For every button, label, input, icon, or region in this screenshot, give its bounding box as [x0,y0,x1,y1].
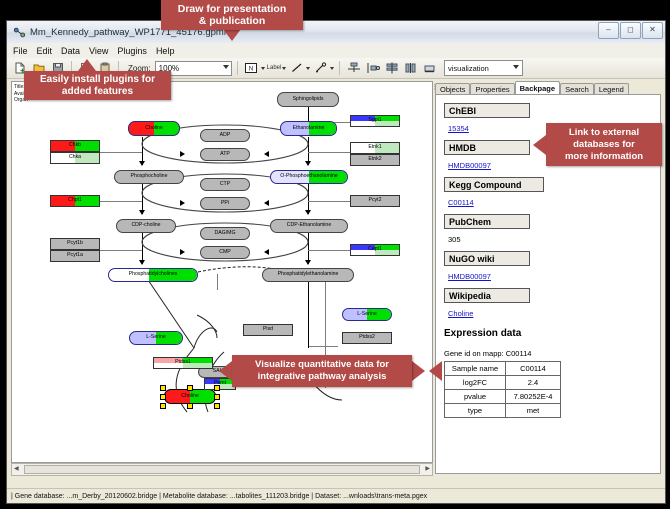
node-adp[interactable]: ADP [200,129,250,142]
selection-handle[interactable] [160,403,166,409]
toolbar-separator-3 [237,61,238,75]
db-link-hmdb[interactable]: HMDB00097 [448,161,491,170]
visualization-select[interactable]: visualization [444,60,523,76]
table-row: Sample name C00114 [445,362,561,376]
callout-visualize-line2: integrative pathway analysis [255,371,389,383]
callout-visualize-arrow-left [219,361,232,381]
scroll-right-icon[interactable]: ▶ [425,465,430,472]
db-link-nugo-wiki[interactable]: HMDB00097 [448,272,491,281]
callout-links-arrow [533,135,546,155]
table-row: log2FC 2.4 [445,376,561,390]
title-bar: Mm_Kennedy_pathway_WP1771_45176.gpml – ◻… [7,21,665,44]
callout-plugins-line1: Easily install plugins for [40,74,155,86]
gene-cept1[interactable]: Cept1 [350,244,400,256]
arrow-icon [180,249,185,255]
cell-key: type [445,404,506,418]
callout-draw-line1: Draw for presentation [178,3,287,15]
canvas-hscrollbar[interactable]: ◀ ▶ [11,463,433,476]
node-atp[interactable]: ATP [200,148,250,161]
gene-ptdss1[interactable]: Ptdss1 [153,357,213,369]
selection-handle[interactable] [214,403,220,409]
chevron-down-icon[interactable] [330,67,334,70]
arrow-icon [139,260,145,265]
db-header-kegg-compound: Kegg Compound [444,177,544,192]
gene-sgpl1[interactable]: Sgpl1 [350,115,400,127]
expression-data-title: Expression data [444,328,644,339]
distribute-icon[interactable] [364,60,381,77]
menu-item-view[interactable]: View [89,46,108,56]
callout-visualize-line1: Visualize quantitative data for [255,359,389,371]
panel-tabs: Objects Properties Backpage Search Legen… [435,81,629,95]
chevron-down-icon[interactable] [261,67,265,70]
db-link-wikipedia[interactable]: Choline [448,309,473,318]
node-phosphatidylcholines[interactable]: Phosphatidylcholines [108,268,198,282]
connector [217,274,218,290]
label-tool[interactable]: Label [267,65,287,71]
arrow-icon [305,161,311,166]
arrow-icon [264,151,269,157]
datanode-tool[interactable]: N [243,60,265,77]
line-icon[interactable] [288,60,305,77]
db-header-nugo-wiki: NuGO wiki [444,251,530,266]
callout-draw-arrow [223,29,241,41]
gene-chkb[interactable]: Chkb [50,140,100,152]
db-header-pubchem: PubChem [444,214,530,229]
menu-item-help[interactable]: Help [156,46,175,56]
node-cmp[interactable]: CMP [200,246,250,259]
menu-item-file[interactable]: File [13,46,28,56]
node-choline-selected[interactable]: Choline [164,389,216,404]
node-dag-mg[interactable]: DAG/MG [200,227,250,240]
chevron-down-icon[interactable] [223,65,229,69]
callout-visualize: Visualize quantitative data for integrat… [232,355,412,387]
gene-id-line: Gene id on mapp: C00114 [444,349,644,358]
db-link-kegg-compound[interactable]: C00114 [448,198,474,207]
callout-visualize-arrow-panel [429,361,442,381]
edge-ptdeth-up [308,278,309,348]
callout-links-line1: Link to external [565,127,643,139]
callout-draw-line2: & publication [178,15,287,27]
connector [308,250,350,251]
selection-handle[interactable] [214,394,220,400]
db-link-chebi[interactable]: 15354 [448,124,469,133]
table-row: type met [445,404,561,418]
visualization-value: visualization [448,64,489,73]
chevron-down-icon[interactable] [306,67,310,70]
gene-chka[interactable]: Chka [50,152,100,164]
window-controls[interactable]: – ◻ ✕ [598,22,663,39]
db-value-pubchem: 305 [448,235,461,244]
minimize-icon[interactable]: – [598,22,619,39]
menu-item-data[interactable]: Data [61,46,80,56]
pathvisio-icon [13,26,26,39]
status-bar: | Gene database: ...m_Derby_20120602.bri… [7,488,666,503]
arrow-icon [139,161,145,166]
callout-visualize-arrow-right [412,361,425,381]
callout-plugins-arrow [78,59,96,71]
selection-handle[interactable] [214,385,220,391]
node-ctp[interactable]: CTP [200,178,250,191]
callout-plugins-line2: added features [40,86,155,98]
gene-etnk1[interactable]: Etnk1 [350,142,400,154]
node-phosphatidylethanolamine[interactable]: Phosphatidylethanolamine [262,268,354,282]
cell-key: log2FC [445,376,506,390]
menu-item-edit[interactable]: Edit [37,46,53,56]
connector [308,346,338,347]
callout-plugins: Easily install plugins for added feature… [24,71,171,100]
chevron-down-icon[interactable] [282,67,286,70]
callout-draw: Draw for presentation & publication [161,0,303,30]
arrow-icon [305,260,311,265]
arrow-icon [139,210,145,215]
cell-value: 2.4 [506,376,561,390]
svg-text:N: N [249,66,253,72]
scroll-left-icon[interactable]: ◀ [14,465,19,472]
gene-pcyt2[interactable]: Pcyt2 [350,195,400,207]
datanode-icon[interactable]: N [243,60,260,77]
screenshot-root: Mm_Kennedy_pathway_WP1771_45176.gpml – ◻… [0,0,670,509]
node-ethanolamine-top[interactable]: Ethanolamine [280,121,337,136]
arrow-icon [264,249,269,255]
arrow-icon [264,200,269,206]
gene-pcyt1a[interactable]: Pcyt1a [50,250,100,262]
anchor-tool[interactable] [312,60,334,77]
table-row: pvalue 7.80252E-4 [445,390,561,404]
arrow-icon [305,210,311,215]
selection-handle[interactable] [187,403,193,409]
maximize-icon[interactable]: ◻ [620,22,641,39]
selection-handle[interactable] [160,385,166,391]
size-icon[interactable] [402,60,419,77]
connector [308,152,350,153]
db-header-chebi: ChEBI [444,103,530,118]
node-l-serine-left[interactable]: L-Serine [129,331,183,345]
chevron-down-icon[interactable] [513,65,519,69]
status-bar-text: | Gene database: ...m_Derby_20120602.bri… [11,493,427,500]
selection-handle[interactable] [160,394,166,400]
tab-backpage[interactable]: Backpage [515,81,560,95]
gene-ptdss2[interactable]: Ptdss2 [342,332,392,344]
callout-links-line3: more information [565,151,643,163]
group-icon[interactable] [421,60,438,77]
toolbar-separator-4 [339,61,340,75]
close-icon[interactable]: ✕ [642,22,663,39]
connector [100,201,142,202]
pathway-canvas[interactable]: Title: Availa Organ [11,81,433,463]
gene-pisd[interactable]: Pisd [243,324,293,336]
cell-value: C00114 [506,362,561,376]
node-cdp-ethanolamine[interactable]: CDP-Ethanolamine [270,219,348,233]
node-l-serine-right[interactable]: L-Serine [342,308,392,321]
node-ppi[interactable]: PPi [200,197,250,210]
connector [308,201,350,202]
menu-bar: File Edit Data View Plugins Help [7,43,666,59]
gene-chpt1[interactable]: Chpt1 [50,195,100,207]
scroll-thumb[interactable] [24,465,420,474]
node-phosphocholine[interactable]: Phosphocholine [114,170,184,184]
menu-item-plugins[interactable]: Plugins [117,46,147,56]
gene-etnk2[interactable]: Etnk2 [350,154,400,166]
db-header-wikipedia: Wikipedia [444,288,530,303]
label-tool-text: Label [267,65,282,71]
callout-links-line2: databases for [565,139,643,151]
expression-table: Sample name C00114 log2FC 2.4 pvalue 7.8… [444,361,561,418]
node-choline-top[interactable]: Choline [128,121,180,136]
arrow-icon [180,200,185,206]
cell-key: pvalue [445,390,506,404]
db-header-hmdb: HMDB [444,140,530,155]
node-cdp-choline[interactable]: CDP-choline [116,219,176,233]
cell-value: 7.80252E-4 [506,390,561,404]
anchor-icon[interactable] [312,60,329,77]
connector [100,250,142,251]
connector [100,152,142,153]
cell-value: met [506,404,561,418]
cell-key: Sample name [445,362,506,376]
node-o-phosphoethanolamine[interactable]: O-Phosphoethanolamine [270,170,348,184]
stack-icon[interactable] [383,60,400,77]
selection-handle[interactable] [187,385,193,391]
node-sphingolipids[interactable]: Sphingolipids [277,92,339,107]
align-icon[interactable] [345,60,362,77]
callout-links: Link to external databases for more info… [546,123,662,166]
arrow-icon [180,151,185,157]
gene-pcyt1b[interactable]: Pcyt1b [50,238,100,250]
line-tool[interactable] [288,60,310,77]
